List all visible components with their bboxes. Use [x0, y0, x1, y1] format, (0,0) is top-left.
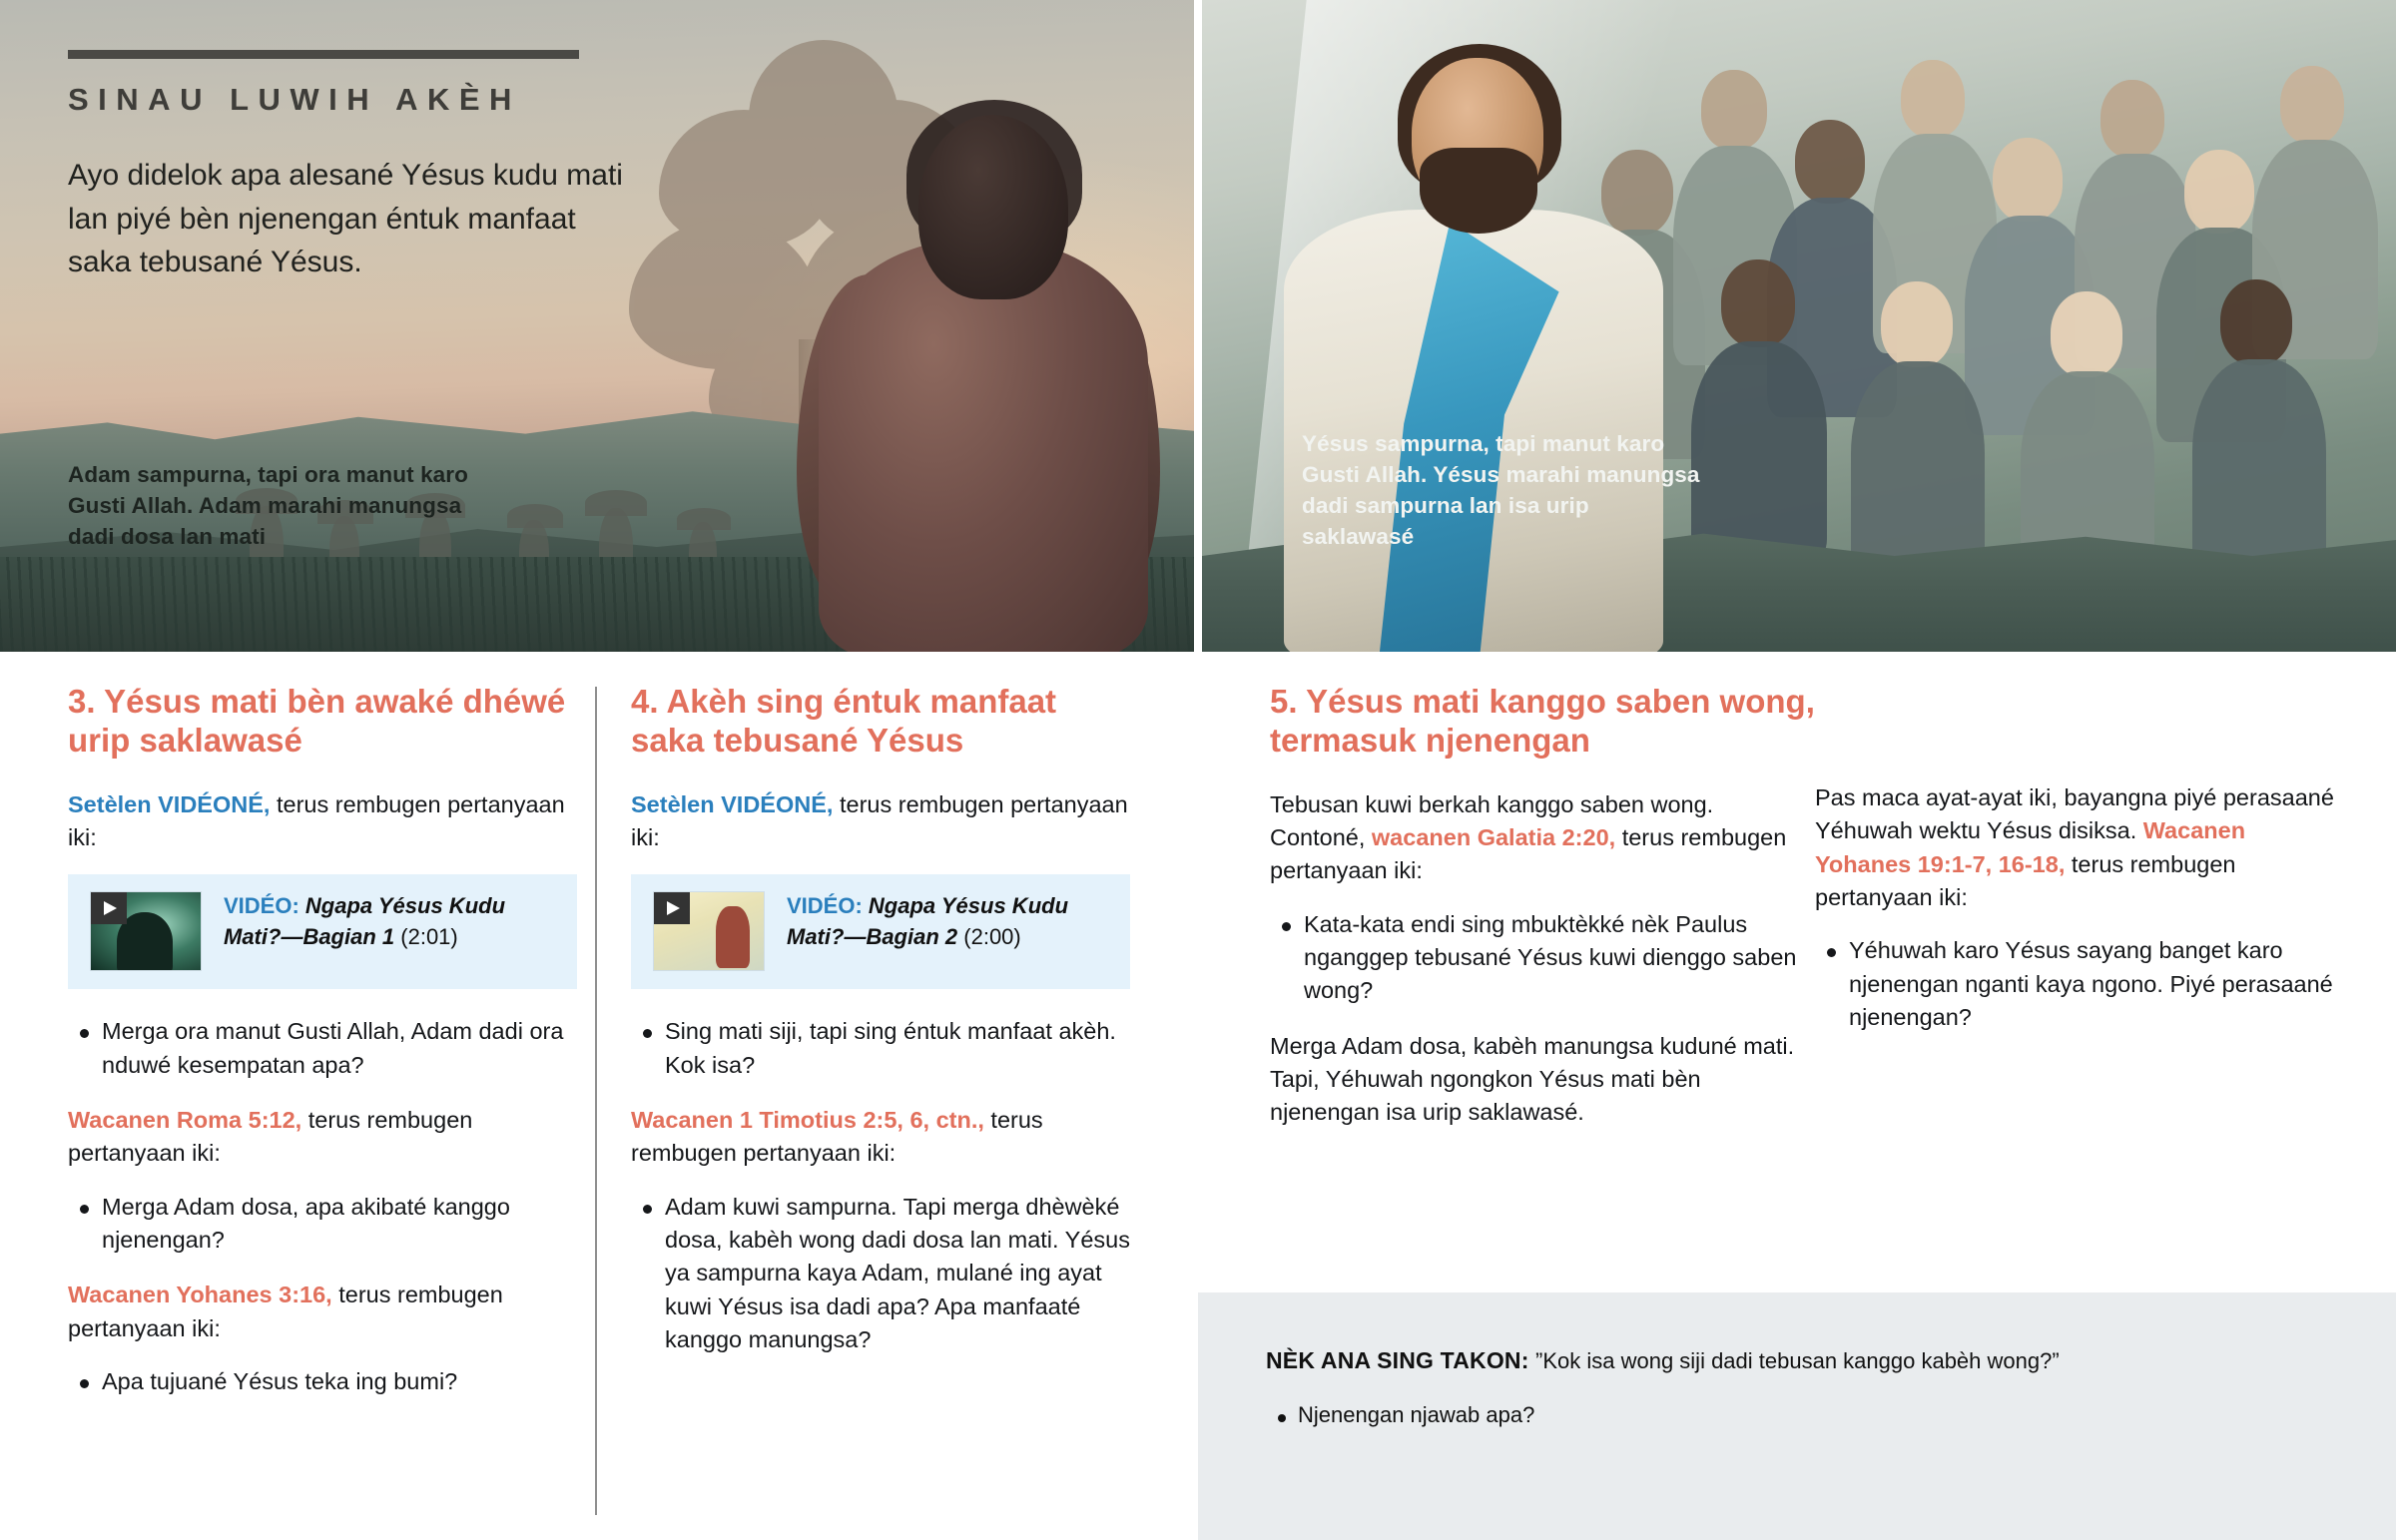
section-3-scripture-1: Wacanen Roma 5:12, terus rembugen pertan… [68, 1104, 577, 1171]
watch-video-label: Setèlen VIDÉONÉ, [68, 791, 270, 817]
list-item: Apa tujuané Yésus teka ing bumi? [68, 1365, 577, 1398]
ask-heading-line: NÈK ANA SING TAKON: ”Kok isa wong siji d… [1266, 1347, 2396, 1374]
scripture-ref-galatia-2-20[interactable]: wacanen Galatia 2:20, [1372, 824, 1615, 850]
caption-right-image: Yésus sampurna, tapi manut karo Gusti Al… [1302, 428, 1701, 552]
play-icon[interactable] [654, 892, 690, 924]
list-item: Merga ora manut Gusti Allah, Adam dadi o… [68, 1015, 577, 1082]
video-thumbnail[interactable] [90, 891, 202, 971]
section-5-column-b: Pas maca ayat-ayat iki, bayangna piyé pe… [1815, 781, 2334, 1057]
section-4-heading: 4. Akèh sing éntuk manfaat saka tebusané… [631, 682, 1130, 761]
section-3-column: 3. Yésus mati bèn awaké dhéwé urip sakla… [68, 682, 577, 1420]
video-callout-part2[interactable]: VIDÉO: Ngapa Yésus Kudu Mati?—Bagian 2 (… [631, 874, 1130, 989]
list-item: Kata-kata endi sing mbuktèkké nèk Paulus… [1270, 908, 1799, 1008]
section-5-lead-b-before: Pas maca ayat-ayat iki, bayangna piyé pe… [1815, 784, 2334, 843]
section-3-questions-1: Merga ora manut Gusti Allah, Adam dadi o… [68, 1015, 577, 1082]
section-5-heading: 5. Yésus mati kanggo saben wong, termasu… [1270, 682, 1889, 761]
crowd-of-people [1581, 30, 2396, 589]
section-5-lead-b: Pas maca ayat-ayat iki, bayangna piyé pe… [1815, 781, 2334, 914]
video-duration: (2:01) [400, 924, 457, 949]
section-4-column: 4. Akèh sing éntuk manfaat saka tebusané… [631, 682, 1130, 1378]
section-3-questions-3: Apa tujuané Yésus teka ing bumi? [68, 1365, 577, 1398]
section-4-questions-1: Sing mati siji, tapi sing éntuk manfaat … [631, 1015, 1130, 1082]
list-item: Merga Adam dosa, apa akibaté kanggo njen… [68, 1191, 577, 1258]
section-5-closing: Merga Adam dosa, kabèh manungsa kuduné m… [1270, 1030, 1799, 1130]
section-4-questions-2: Adam kuwi sampurna. Tapi merga dhèwèké d… [631, 1191, 1130, 1357]
section-3-heading: 3. Yésus mati bèn awaké dhéwé urip sakla… [68, 682, 577, 761]
section-5-column-a: 5. Yésus mati kanggo saben wong, termasu… [1270, 682, 1799, 1150]
if-someone-asks-box: NÈK ANA SING TAKON: ”Kok isa wong siji d… [1198, 1292, 2396, 1540]
section-3-lead: Setèlen VIDÉONÉ, terus rembugen pertanya… [68, 788, 577, 855]
scripture-ref-1-timotius-2-5-6[interactable]: Wacanen 1 Timotius 2:5, 6, ctn., [631, 1107, 984, 1133]
list-item: Njenengan njawab apa? [1266, 1402, 2396, 1428]
video-callout-part1[interactable]: VIDÉO: Ngapa Yésus Kudu Mati?—Bagian 1 (… [68, 874, 577, 989]
play-icon[interactable] [91, 892, 127, 924]
jesus-figure [1262, 40, 1681, 652]
section-header: SINAU LUWIH AKÈH Ayo didelok apa alesané… [68, 50, 627, 284]
section-3-questions-2: Merga Adam dosa, apa akibaté kanggo njen… [68, 1191, 577, 1258]
section-5-questions-a: Kata-kata endi sing mbuktèkké nèk Paulus… [1270, 908, 1799, 1008]
section-5-questions-b: Yéhuwah karo Yésus sayang banget karo nj… [1815, 934, 2334, 1034]
header-rule [68, 50, 579, 59]
page-intro: Ayo didelok apa alesané Yésus kudu mati … [68, 154, 627, 284]
section-4-lead: Setèlen VIDÉONÉ, terus rembugen pertanya… [631, 788, 1130, 855]
page-kicker: SINAU LUWIH AKÈH [68, 82, 627, 118]
scripture-ref-yohanes-3-16[interactable]: Wacanen Yohanes 3:16, [68, 1282, 332, 1307]
adam-figure [779, 60, 1194, 652]
ask-quote: ”Kok isa wong siji dadi tebusan kanggo k… [1535, 1348, 2060, 1373]
video-duration: (2:00) [963, 924, 1020, 949]
video-caption: VIDÉO: Ngapa Yésus Kudu Mati?—Bagian 1 (… [224, 891, 557, 952]
section-5-lead: Tebusan kuwi berkah kanggo saben wong. C… [1270, 788, 1799, 888]
section-3-scripture-2: Wacanen Yohanes 3:16, terus rembugen per… [68, 1279, 577, 1345]
illustration-adam-scene: SINAU LUWIH AKÈH Ayo didelok apa alesané… [0, 0, 1194, 652]
page-root: SINAU LUWIH AKÈH Ayo didelok apa alesané… [0, 0, 2396, 1540]
list-item: Sing mati siji, tapi sing éntuk manfaat … [631, 1015, 1130, 1082]
section-4-scripture-1: Wacanen 1 Timotius 2:5, 6, ctn., terus r… [631, 1104, 1130, 1171]
column-divider [595, 687, 597, 1515]
hero-image-band: SINAU LUWIH AKÈH Ayo didelok apa alesané… [0, 0, 2396, 652]
caption-left-image: Adam sampurna, tapi ora manut karo Gusti… [68, 459, 487, 552]
ask-label: NÈK ANA SING TAKON: [1266, 1347, 1529, 1373]
ask-questions: Njenengan njawab apa? [1266, 1402, 2396, 1428]
video-thumbnail[interactable] [653, 891, 765, 971]
video-label: VIDÉO: [787, 893, 863, 918]
scripture-ref-roma-5-12[interactable]: Wacanen Roma 5:12, [68, 1107, 301, 1133]
illustration-jesus-crowd: Yésus sampurna, tapi manut karo Gusti Al… [1202, 0, 2396, 652]
list-item: Yéhuwah karo Yésus sayang banget karo nj… [1815, 934, 2334, 1034]
list-item: Adam kuwi sampurna. Tapi merga dhèwèké d… [631, 1191, 1130, 1357]
video-label: VIDÉO: [224, 893, 299, 918]
watch-video-label: Setèlen VIDÉONÉ, [631, 791, 833, 817]
video-caption: VIDÉO: Ngapa Yésus Kudu Mati?—Bagian 2 (… [787, 891, 1110, 952]
